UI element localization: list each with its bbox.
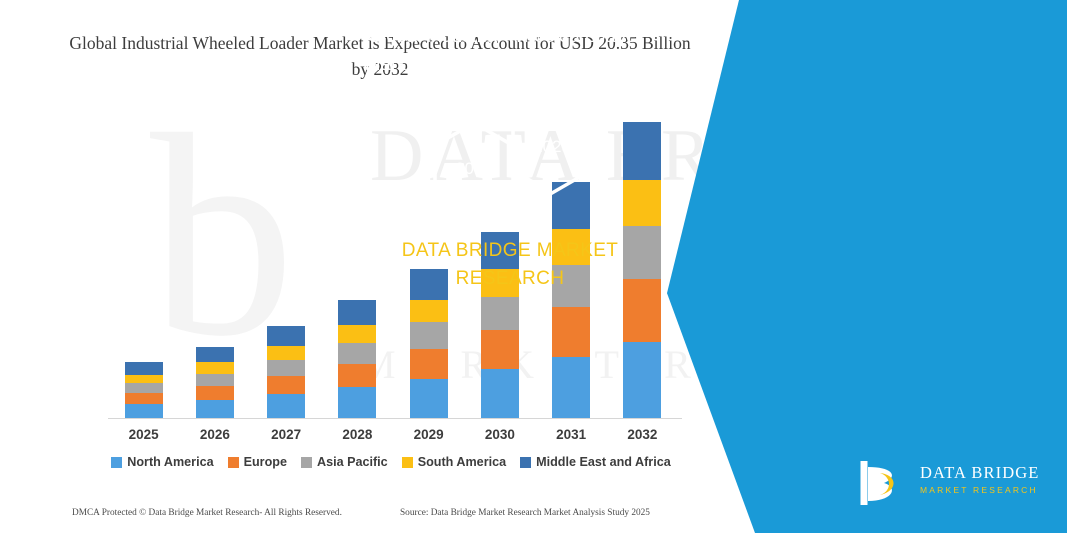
right-blue-panel xyxy=(667,0,1067,533)
bar-segment xyxy=(267,394,305,418)
bar-segment xyxy=(267,376,305,394)
brand-name-line2: RESEARCH xyxy=(370,268,650,290)
legend-item: South America xyxy=(402,455,506,469)
brand-name-line1: DATA BRIDGE MARKET xyxy=(370,240,650,262)
bar-segment xyxy=(267,346,305,360)
legend-label: Europe xyxy=(244,455,287,469)
bar-segment xyxy=(481,297,519,330)
logo-primary-text: DATA BRIDGE xyxy=(920,463,1039,483)
legend-label: Asia Pacific xyxy=(317,455,388,469)
legend-item: Middle East and Africa xyxy=(520,455,671,469)
legend-item: Asia Pacific xyxy=(301,455,388,469)
x-axis-label: 2026 xyxy=(183,427,247,442)
x-axis-label: 2028 xyxy=(325,427,389,442)
footer-copyright: DMCA Protected © Data Bridge Market Rese… xyxy=(72,508,342,518)
bar-segment xyxy=(125,404,163,418)
hexagon-2032-label: 2032 xyxy=(455,159,493,179)
x-axis-label: 2030 xyxy=(468,427,532,442)
bar-group xyxy=(410,269,448,418)
bar-segment xyxy=(410,349,448,380)
company-logo: DATA BRIDGE MARKET RESEARCH xyxy=(858,455,1048,511)
footer: DMCA Protected © Data Bridge Market Rese… xyxy=(0,508,712,530)
bar-segment xyxy=(338,300,376,325)
legend-swatch xyxy=(111,457,122,468)
bar-group xyxy=(125,362,163,418)
bar-segment xyxy=(410,379,448,418)
bar-segment xyxy=(338,364,376,388)
bar-segment xyxy=(338,343,376,364)
x-axis-label: 2032 xyxy=(610,427,674,442)
bar-segment xyxy=(196,362,234,373)
bar-group xyxy=(338,300,376,418)
x-axis-label: 2029 xyxy=(397,427,461,442)
bar-segment xyxy=(196,374,234,387)
bar-segment xyxy=(338,325,376,343)
chart-area: b DATA BRIDGE MARKET RESEARCH Global Ind… xyxy=(0,0,712,533)
bar-segment xyxy=(196,347,234,362)
x-axis-label: 2031 xyxy=(539,427,603,442)
logo-secondary-text: MARKET RESEARCH xyxy=(920,485,1038,495)
bar-segment xyxy=(196,400,234,418)
hexagon-2032: 2032 xyxy=(430,120,518,218)
infographic-root: b DATA BRIDGE MARKET RESEARCH Global Ind… xyxy=(0,0,1067,533)
bar-segment xyxy=(552,357,590,418)
bar-segment xyxy=(125,362,163,375)
bar-segment xyxy=(125,383,163,393)
legend-item: North America xyxy=(111,455,213,469)
bar-segment xyxy=(410,300,448,322)
x-axis-line xyxy=(108,418,682,419)
hexagon-2025-label: 2025 xyxy=(533,137,571,157)
hexagon-2025: 2025 xyxy=(508,98,596,196)
legend-swatch xyxy=(402,457,413,468)
panel-title: Global Industrial Wheeled Loader Market,… xyxy=(355,22,655,78)
bar-group xyxy=(196,347,234,418)
bridge-logo-icon xyxy=(858,457,914,509)
bar-segment xyxy=(623,342,661,418)
hexagon-badges: 2032 2025 xyxy=(430,98,660,218)
bar-segment xyxy=(481,330,519,369)
legend-item: Europe xyxy=(228,455,287,469)
x-axis-label: 2027 xyxy=(254,427,318,442)
bar-segment xyxy=(125,393,163,404)
x-axis-label: 2025 xyxy=(112,427,176,442)
bar-group xyxy=(267,326,305,418)
x-axis-labels: 20252026202720282029203020312032 xyxy=(108,427,682,451)
bar-segment xyxy=(125,375,163,383)
bar-segment xyxy=(196,386,234,400)
legend-swatch xyxy=(228,457,239,468)
legend-label: South America xyxy=(418,455,506,469)
footer-source: Source: Data Bridge Market Research Mark… xyxy=(400,508,650,518)
bar-segment xyxy=(552,307,590,357)
bar-segment xyxy=(267,360,305,377)
legend-label: North America xyxy=(127,455,213,469)
bar-segment xyxy=(481,369,519,418)
bar-segment xyxy=(338,387,376,418)
legend-swatch xyxy=(301,457,312,468)
bar-segment xyxy=(410,322,448,348)
bar-segment xyxy=(267,326,305,345)
legend-label: Middle East and Africa xyxy=(536,455,671,469)
chart-legend: North AmericaEuropeAsia PacificSouth Ame… xyxy=(96,455,686,469)
legend-swatch xyxy=(520,457,531,468)
